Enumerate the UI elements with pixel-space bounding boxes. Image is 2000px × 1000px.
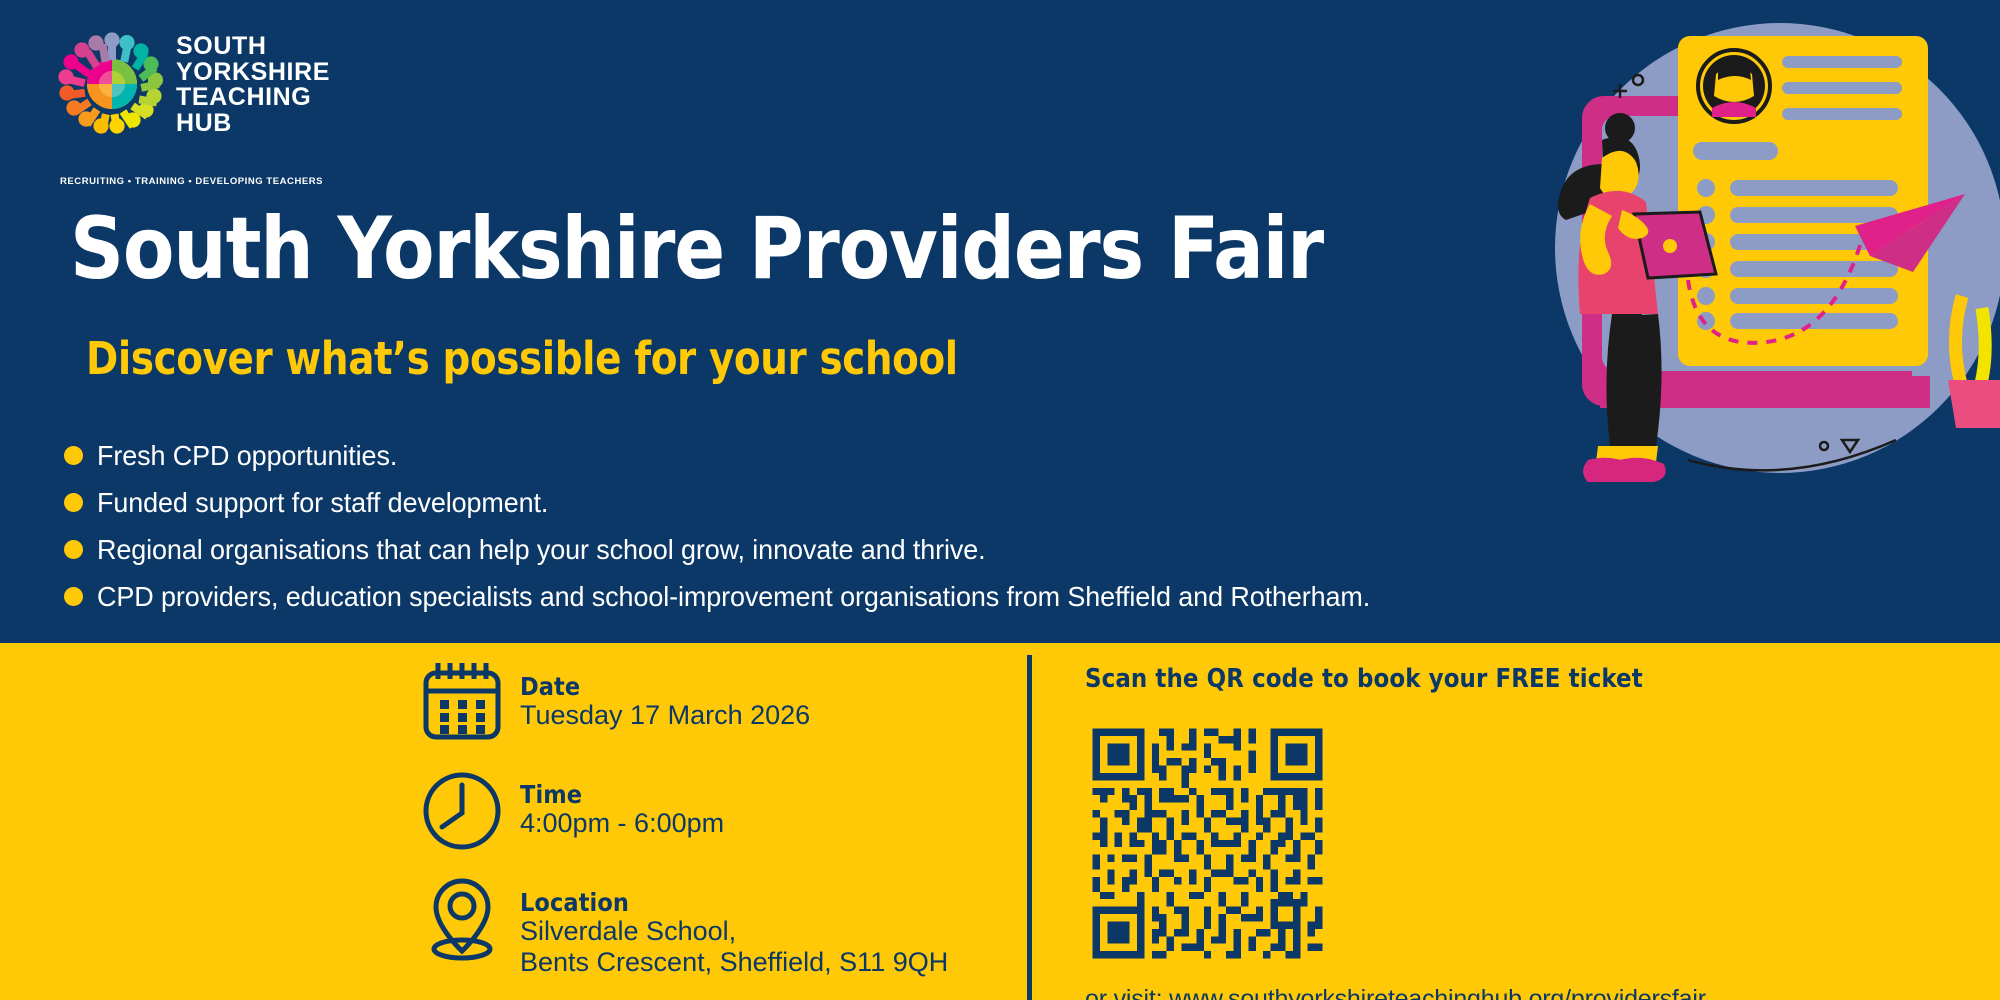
clock-icon [418, 765, 506, 853]
list-item-label: CPD providers, education specialists and… [97, 582, 1370, 612]
calendar-icon [418, 657, 506, 745]
page-subtitle: Discover what’s possible for your school [86, 336, 958, 382]
event-details-column: Date Tuesday 17 March 2026 Time 4:00pm -… [418, 657, 948, 998]
detail-text-date: Date Tuesday 17 March 2026 [520, 657, 810, 731]
brand-logo-wordmark: SOUTH YORKSHIRE TEACHING HUB [176, 34, 330, 136]
detail-text-time: Time 4:00pm - 6:00pm [520, 765, 724, 839]
rainbow-spiral-dots-icon [58, 30, 166, 138]
bullet-dot-icon [64, 446, 83, 465]
page-title: South Yorkshire Providers Fair [70, 205, 1323, 293]
detail-text-location: Location Silverdale School, Bents Cresce… [520, 873, 948, 978]
detail-value: 4:00pm - 6:00pm [520, 808, 724, 839]
booking-url-link[interactable]: or visit: www.southyorkshireteachinghub.… [1085, 985, 1706, 1000]
list-item: Funded support for staff development. [64, 479, 1944, 526]
brand-logo[interactable]: SOUTH YORKSHIRE TEACHING HUB RECRUITING … [58, 28, 358, 153]
list-item-label: Funded support for staff development. [97, 488, 548, 518]
poster-canvas: SOUTH YORKSHIRE TEACHING HUB RECRUITING … [0, 0, 2000, 1000]
logo-line-3: TEACHING [176, 85, 330, 111]
detail-row-time: Time 4:00pm - 6:00pm [418, 765, 948, 853]
bullet-dot-icon [64, 587, 83, 606]
detail-label: Date [520, 673, 810, 700]
logo-line-4: HUB [176, 111, 330, 137]
detail-value-line-1: Silverdale School, [520, 916, 948, 947]
footer-divider [1027, 655, 1032, 1000]
bullet-dot-icon [64, 493, 83, 512]
booking-heading: Scan the QR code to book your FREE ticke… [1085, 665, 1706, 693]
qr-code-icon[interactable] [1085, 721, 1330, 966]
list-item: Fresh CPD opportunities. [64, 432, 1944, 479]
logo-line-2: YORKSHIRE [176, 60, 330, 86]
benefits-list: Fresh CPD opportunities. Funded support … [64, 432, 1944, 620]
event-details-footer: Date Tuesday 17 March 2026 Time 4:00pm -… [0, 643, 2000, 1000]
detail-label: Time [520, 781, 724, 808]
map-pin-icon [418, 873, 506, 961]
list-item: Regional organisations that can help you… [64, 526, 1944, 573]
detail-row-date: Date Tuesday 17 March 2026 [418, 657, 948, 745]
bullet-dot-icon [64, 540, 83, 559]
logo-line-1: SOUTH [176, 34, 330, 60]
detail-label: Location [520, 889, 948, 916]
brand-tagline: RECRUITING • TRAINING • DEVELOPING TEACH… [60, 176, 323, 187]
list-item-label: Regional organisations that can help you… [97, 535, 986, 565]
list-item: CPD providers, education specialists and… [64, 573, 1944, 620]
detail-value: Tuesday 17 March 2026 [520, 700, 810, 731]
list-item-label: Fresh CPD opportunities. [97, 441, 397, 471]
detail-row-location: Location Silverdale School, Bents Cresce… [418, 873, 948, 978]
detail-value-line-2: Bents Crescent, Sheffield, S11 9QH [520, 947, 948, 978]
booking-column: Scan the QR code to book your FREE ticke… [1085, 665, 1706, 1000]
